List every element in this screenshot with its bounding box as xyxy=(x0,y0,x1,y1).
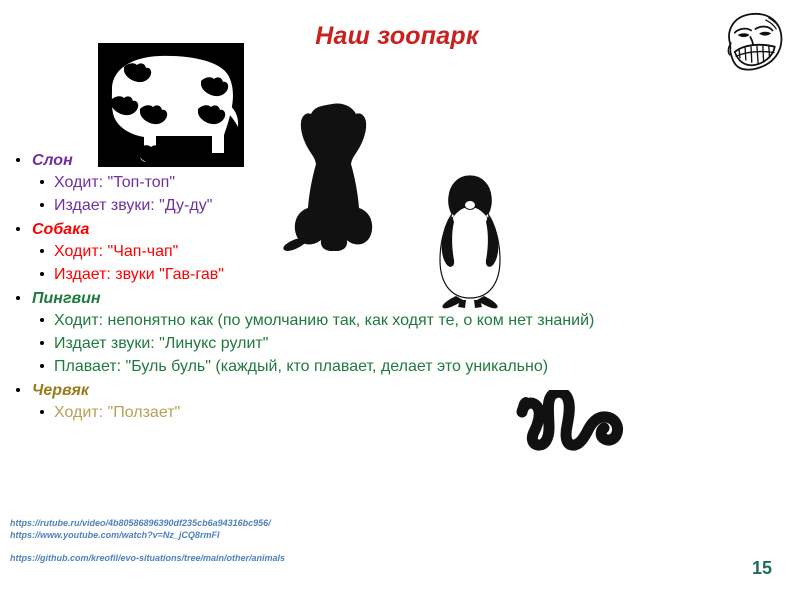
animal-name: Собака xyxy=(32,221,89,238)
list-item-penguin: Пингвин xyxy=(10,288,750,309)
list-item: Издает звуки: "Ду-ду" xyxy=(10,194,750,217)
animal-name: Слон xyxy=(32,152,73,169)
animal-behavior: Издает: звуки "Гав-гав" xyxy=(54,266,224,283)
list-item: Плавает: "Буль буль" (каждый, кто плавае… xyxy=(10,355,750,378)
bullet-dot-icon xyxy=(40,318,44,322)
list-item-dog: Собака xyxy=(10,219,750,240)
bullet-dot-icon xyxy=(40,249,44,253)
bullet-dot-icon xyxy=(40,180,44,184)
source-links: https://rutube.ru/video/4b80586896390df2… xyxy=(10,518,285,565)
animal-behavior: Ходит: непонятно как (по умолчанию так, … xyxy=(54,312,594,329)
list-item: Ходит: "Топ-топ" xyxy=(10,171,750,194)
bullet-dot-icon xyxy=(16,296,20,300)
list-item: Ходит: непонятно как (по умолчанию так, … xyxy=(10,309,750,332)
bullet-dot-icon xyxy=(40,203,44,207)
animal-name: Пингвин xyxy=(32,290,101,307)
bullet-dot-icon xyxy=(16,388,20,392)
slide-canvas: Наш зоопарк xyxy=(0,0,794,596)
link-spacer xyxy=(10,541,285,553)
animal-behavior: Издает звуки: "Ду-ду" xyxy=(54,197,212,214)
bullet-dot-icon xyxy=(16,227,20,231)
troll-face-image xyxy=(716,6,792,80)
animal-behavior: Ходит: "Чап-чап" xyxy=(54,243,178,260)
animal-behavior: Ходит: "Ползает" xyxy=(54,404,180,421)
animal-behavior: Плавает: "Буль буль" (каждый, кто плавае… xyxy=(54,358,548,375)
bullet-dot-icon xyxy=(16,158,20,162)
list-item: Издает звуки: "Линукс рулит" xyxy=(10,332,750,355)
list-item-elephant: Слон xyxy=(10,150,750,171)
animal-name: Червяк xyxy=(32,382,89,399)
list-item: Издает: звуки "Гав-гав" xyxy=(10,263,750,286)
bullet-dot-icon xyxy=(40,364,44,368)
list-item-worm: Червяк xyxy=(10,380,750,401)
source-link-rutube[interactable]: https://rutube.ru/video/4b80586896390df2… xyxy=(10,518,285,530)
source-link-github[interactable]: https://github.com/kreofil/evo-situation… xyxy=(10,553,285,565)
source-link-youtube[interactable]: https://www.youtube.com/watch?v=Nz_jCQ8r… xyxy=(10,530,285,542)
bullet-dot-icon xyxy=(40,341,44,345)
list-item: Ходит: "Ползает" xyxy=(10,401,750,424)
animal-list: Слон Ходит: "Топ-топ" Издает звуки: "Ду-… xyxy=(10,148,750,424)
list-item: Ходит: "Чап-чап" xyxy=(10,240,750,263)
bullet-dot-icon xyxy=(40,272,44,276)
bullet-dot-icon xyxy=(40,410,44,414)
animal-behavior: Ходит: "Топ-топ" xyxy=(54,174,175,191)
animal-behavior: Издает звуки: "Линукс рулит" xyxy=(54,335,268,352)
page-number: 15 xyxy=(752,558,772,579)
